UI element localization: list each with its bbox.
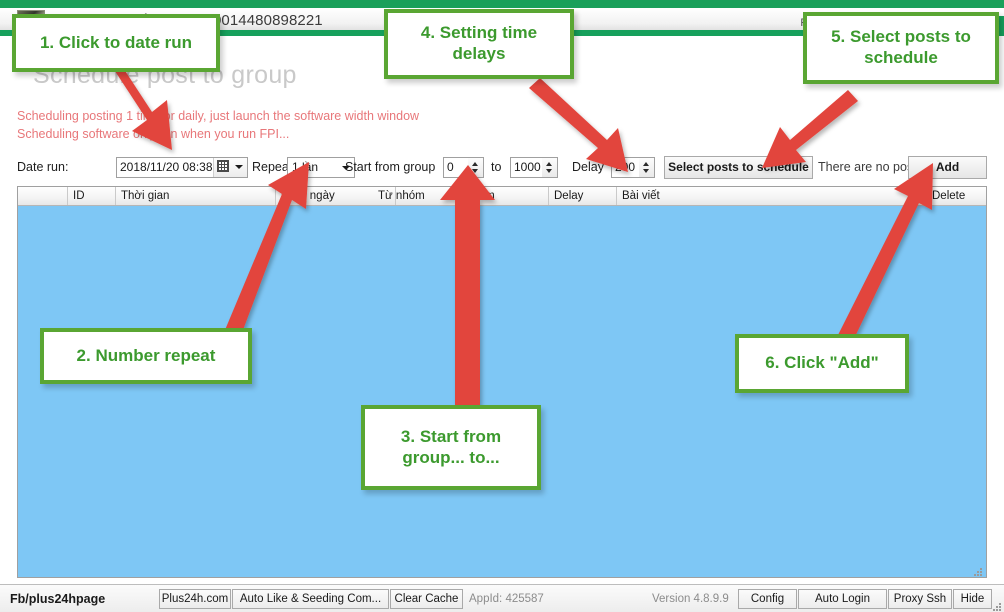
arrow-to-start-from-group <box>440 165 495 415</box>
callout-5: 5. Select posts to schedule <box>803 12 999 84</box>
application-window: Welcome Nhất Hạnh 100014480898221 Remain… <box>0 0 1004 612</box>
callout-2: 2. Number repeat <box>40 328 252 384</box>
arrow-to-add <box>838 163 933 343</box>
callout-3: 3. Start from group... to... <box>361 405 541 490</box>
arrow-to-select-posts <box>762 90 858 168</box>
callout-6: 6. Click "Add" <box>735 334 909 393</box>
arrow-to-date-run <box>113 60 172 150</box>
annotation-arrows <box>0 0 1004 612</box>
callout-1: 1. Click to date run <box>12 14 220 72</box>
arrow-to-delay <box>529 78 628 172</box>
callout-4: 4. Setting time delays <box>384 9 574 79</box>
arrow-to-repeat <box>225 162 309 338</box>
